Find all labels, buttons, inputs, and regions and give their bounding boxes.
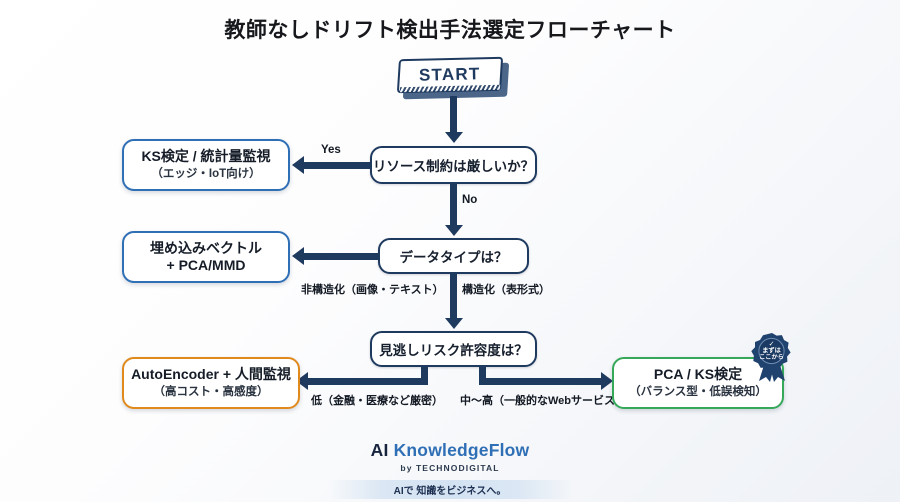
flowchart-canvas: 教師なしドリフト検出手法選定フローチャート START リソース制約は厳しいか？… xyxy=(0,0,900,502)
result-node-subtitle: （エッジ・IoT向け） xyxy=(151,167,260,182)
recommended-badge: ✓ まずは ここから xyxy=(748,331,796,383)
connector-d1-to-r1 xyxy=(303,162,370,169)
page-title: 教師なしドリフト検出手法選定フローチャート xyxy=(0,14,900,44)
start-node-label: START xyxy=(419,64,481,85)
edge-label-yes: Yes xyxy=(321,144,341,156)
brand-byline: by TECHNODIGITAL xyxy=(0,463,900,473)
brand-tagline: AIで 知識をビジネスへ。 xyxy=(394,482,507,497)
arrowhead-d2-to-r2 xyxy=(292,247,304,265)
edge-label-structured: 構造化（表形式） xyxy=(462,281,550,297)
brand-logo-prefix: AI xyxy=(371,440,389,460)
result-node-embedding-pca-mmd[interactable]: 埋め込みベクトル + PCA/MMD xyxy=(122,231,290,283)
result-node-autoencoder-human[interactable]: AutoEncoder + 人間監視 （高コスト・高感度） xyxy=(122,357,300,409)
arrowhead-start-to-d1 xyxy=(445,132,463,143)
result-node-title: 埋め込みベクトル xyxy=(150,240,262,258)
connector-d2-to-r2 xyxy=(303,253,379,260)
connector-d3-to-r4 xyxy=(479,378,603,385)
footer: AI KnowledgeFlow by TECHNODIGITAL AIで 知識… xyxy=(0,440,900,499)
brand-tagline-bar: AIで 知識をビジネスへ。 xyxy=(328,480,572,499)
edge-label-unstructured: 非構造化（画像・テキスト） xyxy=(301,281,444,297)
result-node-subtitle: （バランス型・低誤検知） xyxy=(629,385,767,400)
arrowhead-d2-to-d3 xyxy=(445,318,463,329)
arrowhead-d1-to-d2 xyxy=(445,225,463,236)
result-node-title-2: + PCA/MMD xyxy=(167,257,246,275)
connector-d2-to-d3 xyxy=(450,274,457,322)
edge-label-risk-low: 低（金融・医療など厳密） xyxy=(311,392,443,408)
connector-d1-to-d2 xyxy=(450,184,457,228)
edge-label-risk-mid-high: 中～高（一般的なWebサービス） xyxy=(460,392,626,408)
start-node: START xyxy=(398,58,510,98)
decision-node-label: リソース制約は厳しいか？ xyxy=(373,155,534,175)
connector-start-to-d1 xyxy=(450,96,457,136)
decision-node-data-type[interactable]: データタイプは？ xyxy=(378,238,529,274)
brand-logo: AI KnowledgeFlow xyxy=(0,440,900,461)
arrowhead-d1-to-r1 xyxy=(292,156,304,174)
decision-node-miss-risk[interactable]: 見逃しリスク許容度は？ xyxy=(370,331,537,367)
result-node-title: PCA / KS検定 xyxy=(654,366,742,384)
decision-node-label: 見逃しリスク許容度は？ xyxy=(379,339,528,359)
result-node-title: KS検定 / 統計量監視 xyxy=(141,148,270,166)
edge-label-no: No xyxy=(462,194,477,206)
result-node-ks-test[interactable]: KS検定 / 統計量監視 （エッジ・IoT向け） xyxy=(122,139,290,191)
result-node-title: AutoEncoder + 人間監視 xyxy=(131,366,291,384)
badge-line2: ここから xyxy=(759,353,784,361)
decision-node-resource-constraint[interactable]: リソース制約は厳しいか？ xyxy=(370,146,537,184)
brand-logo-main: KnowledgeFlow xyxy=(394,440,530,460)
connector-d3-to-r3 xyxy=(307,378,428,385)
result-node-subtitle: （高コスト・高感度） xyxy=(154,385,269,400)
decision-node-label: データタイプは？ xyxy=(400,246,508,266)
